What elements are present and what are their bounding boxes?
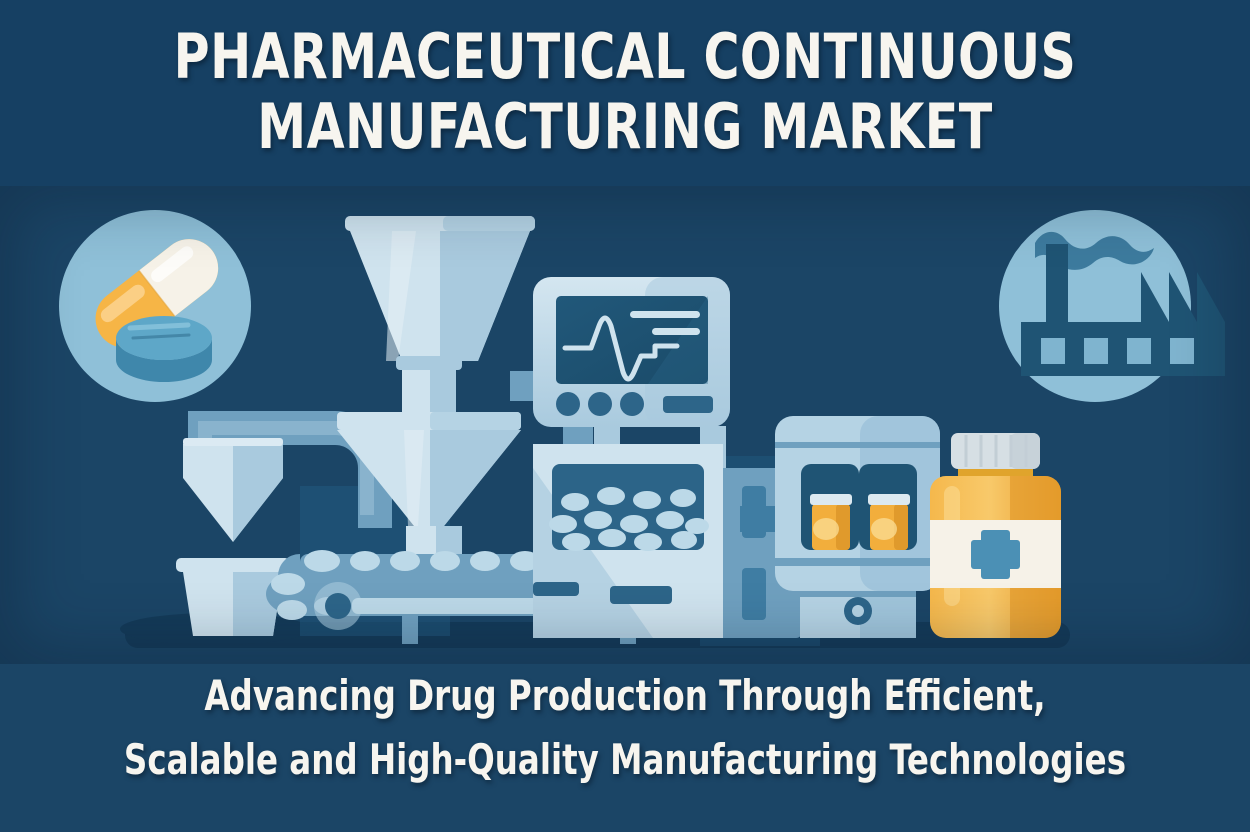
pill-bottle: [930, 433, 1061, 638]
infographic-poster: PHARMACEUTICAL CONTINUOUS MANUFACTURING …: [0, 0, 1250, 832]
page-title: PHARMACEUTICAL CONTINUOUS MANUFACTURING …: [75, 22, 1175, 162]
bottle-and-column-layer: [0, 186, 1250, 664]
illustration-scene: [0, 186, 1250, 664]
pedestal: [800, 591, 916, 638]
page-subtitle: Advancing Drug Production Through Effici…: [88, 664, 1163, 792]
